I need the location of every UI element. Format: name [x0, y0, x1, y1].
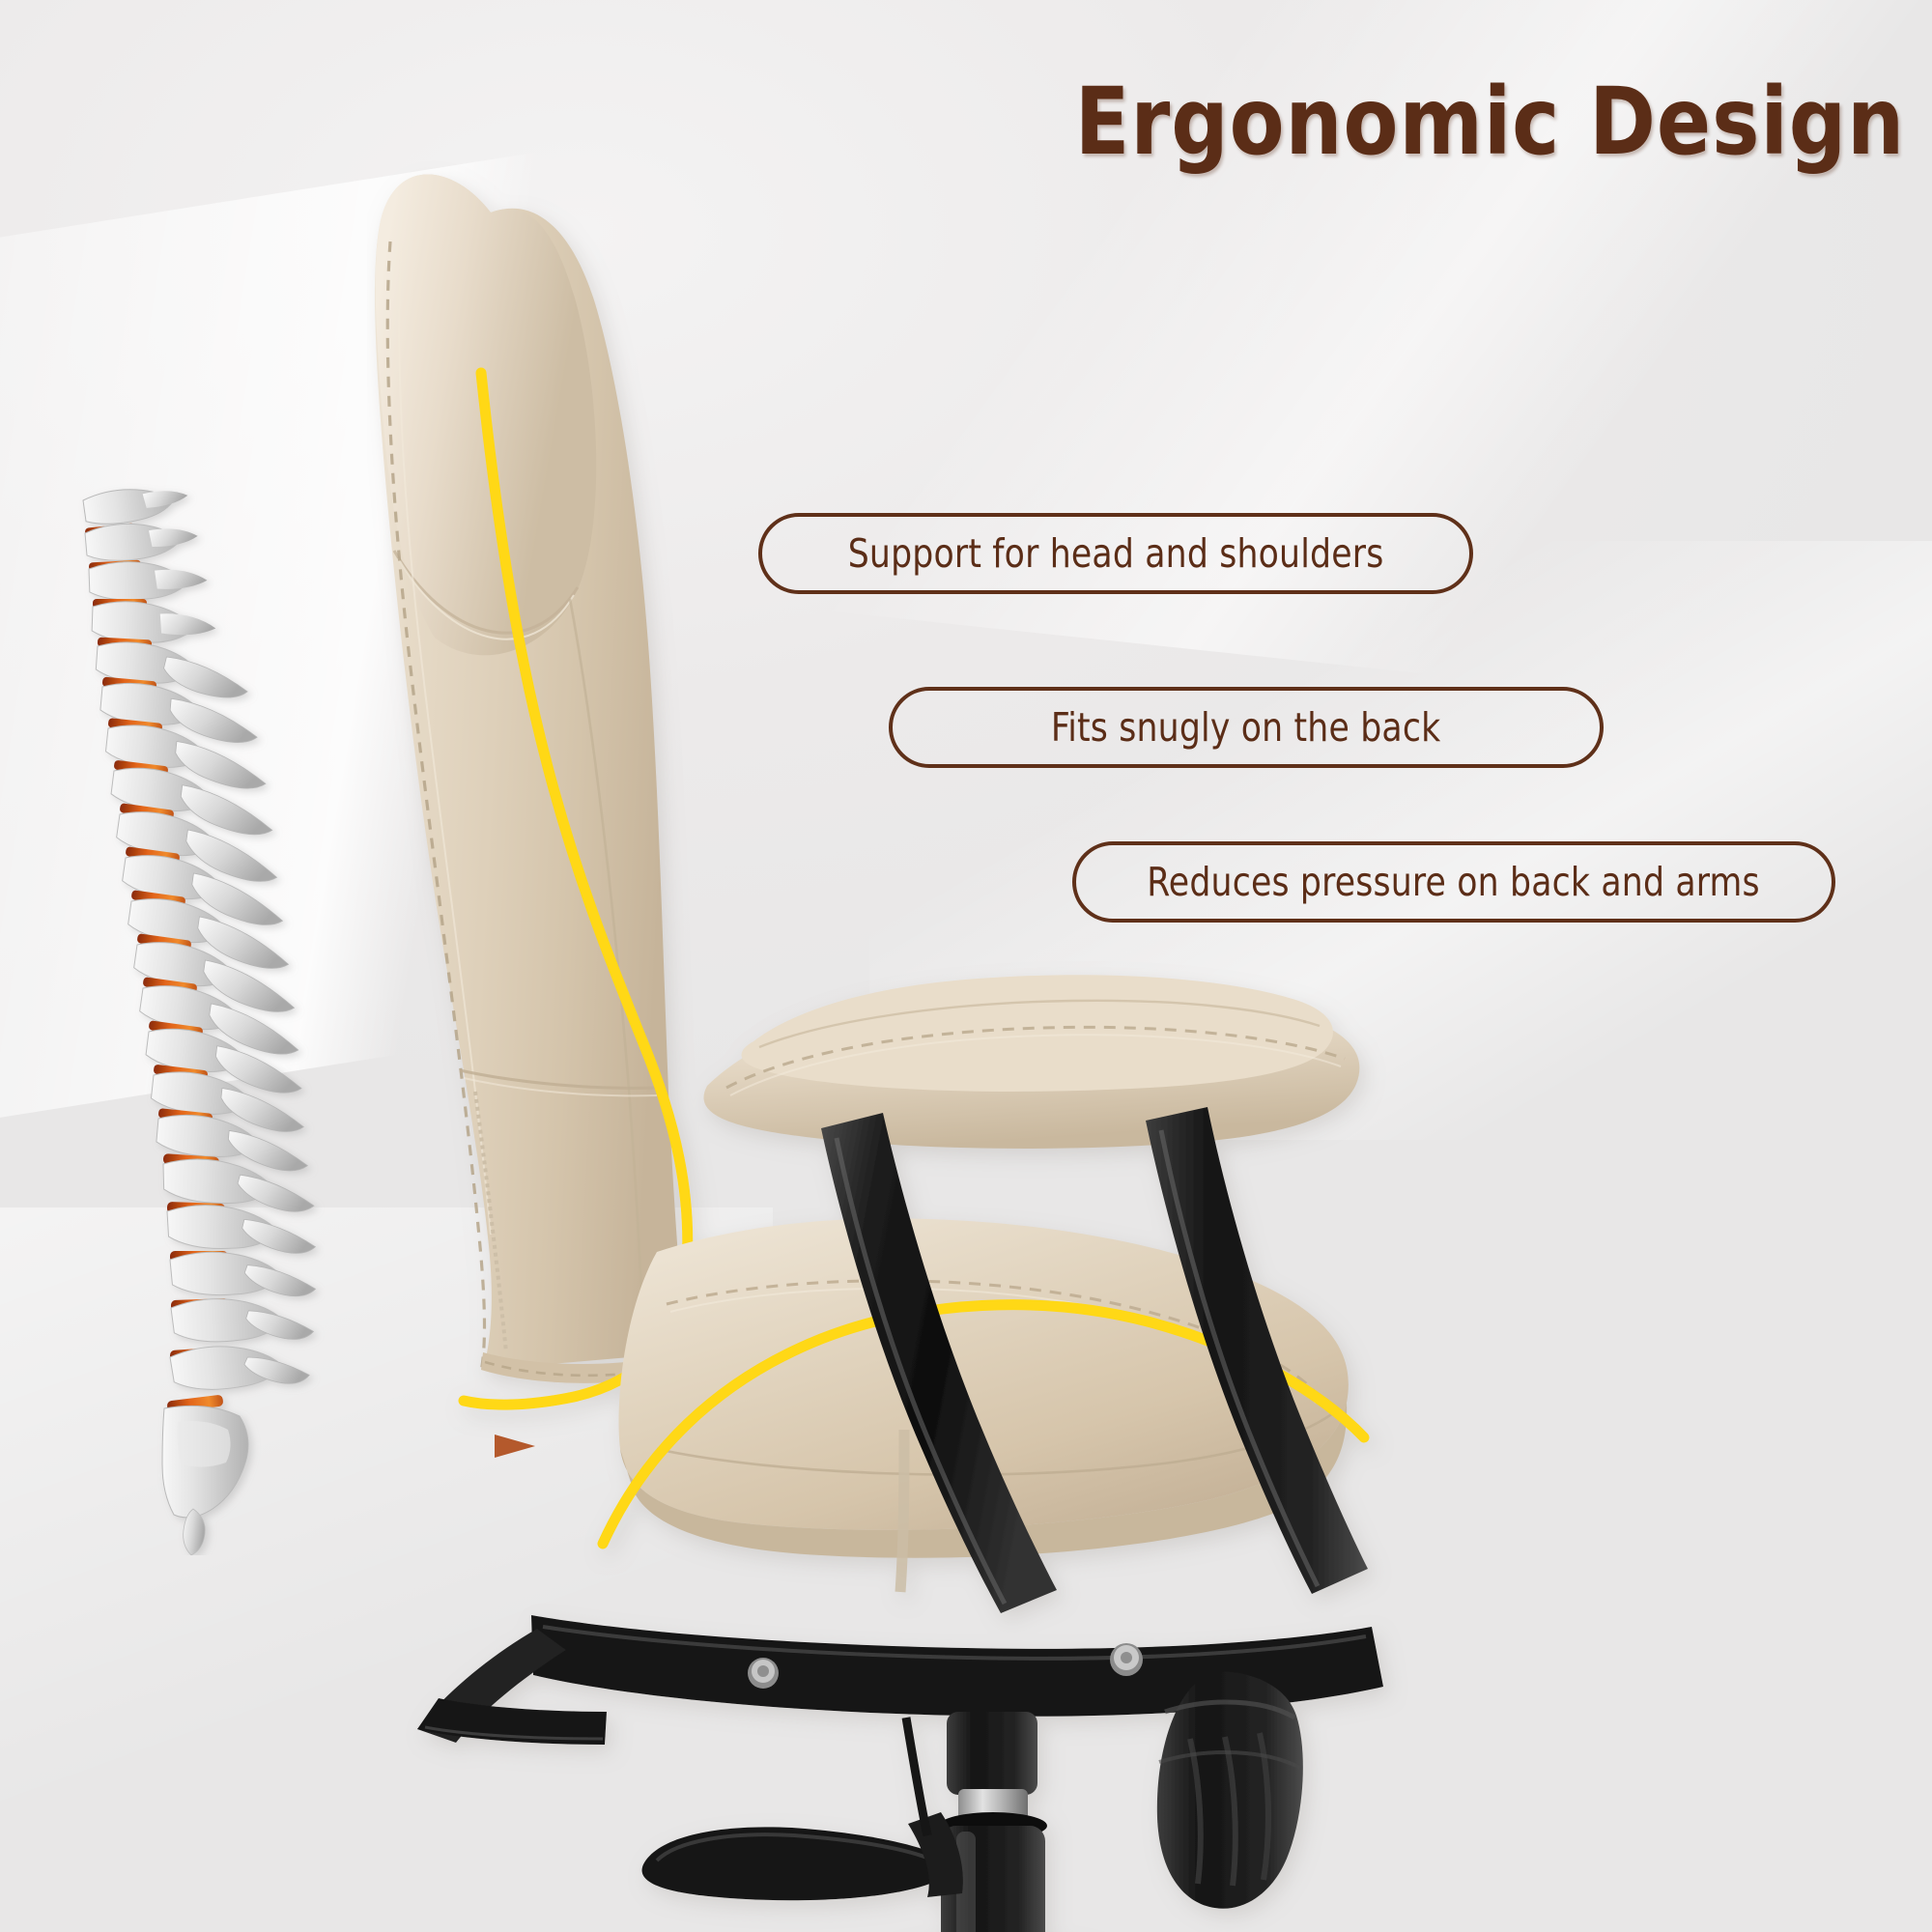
spine-illustration [44, 483, 325, 1555]
callout-reduces-pressure[interactable]: Reduces pressure on back and arms [1072, 841, 1835, 923]
callout-label: Support for head and shoulders [848, 530, 1384, 577]
infographic-canvas: Ergonomic Design [0, 0, 1932, 1932]
callout-label: Reduces pressure on back and arms [1148, 859, 1761, 905]
callout-label: Fits snugly on the back [1051, 704, 1440, 751]
callout-support-head-shoulders[interactable]: Support for head and shoulders [758, 513, 1473, 594]
office-chair-illustration [367, 97, 1874, 1932]
callout-fits-snugly-back[interactable]: Fits snugly on the back [889, 687, 1604, 768]
